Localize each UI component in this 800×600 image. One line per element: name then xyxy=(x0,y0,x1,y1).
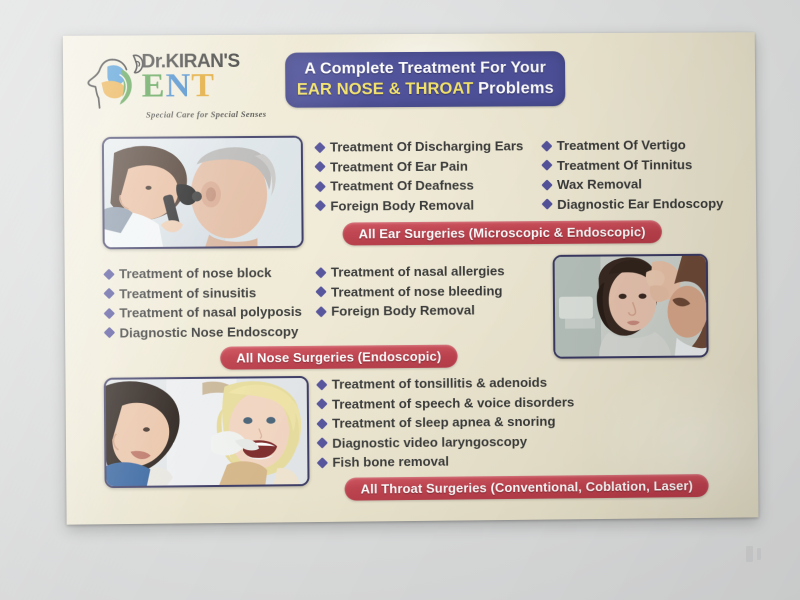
diamond-bullet-icon xyxy=(315,267,326,278)
diamond-bullet-icon xyxy=(541,140,552,151)
throat-examination-photo xyxy=(104,376,310,488)
ent-clinic-poster-board: Dr.KIRAN'S ENT Special Care for Special … xyxy=(63,32,759,524)
ear-surgeries-banner: All Ear Surgeries (Microscopic & Endosco… xyxy=(343,220,662,245)
ear-treatments-left-list: Treatment Of Discharging Ears Treatment … xyxy=(316,136,524,215)
diamond-bullet-icon xyxy=(316,306,327,317)
nose-treatments-right-list: Treatment of nasal allergies Treatment o… xyxy=(317,261,505,321)
list-item-label: Treatment of nasal allergies xyxy=(331,261,505,282)
list-item: Diagnostic video laryngoscopy xyxy=(318,431,575,453)
header-rest: Problems xyxy=(473,79,554,97)
diamond-bullet-icon xyxy=(316,418,327,429)
list-item: Treatment Of Ear Pain xyxy=(316,156,524,177)
brand-letter-t: T xyxy=(191,67,215,104)
nose-surgeries-banner-label: All Nose Surgeries (Endoscopic) xyxy=(236,349,441,366)
diamond-bullet-icon xyxy=(314,161,325,172)
brand-acronym: ENT xyxy=(142,69,216,104)
wall-background: Dr.KIRAN'S ENT Special Care for Special … xyxy=(0,0,800,600)
list-item-label: Foreign Body Removal xyxy=(331,300,475,321)
list-item: Diagnostic Ear Endoscopy xyxy=(543,193,723,214)
list-item: Treatment of nasal allergies xyxy=(317,261,505,282)
diamond-bullet-icon xyxy=(103,268,114,279)
header-banner: A Complete Treatment For Your EAR NOSE &… xyxy=(285,51,565,108)
diamond-bullet-icon xyxy=(542,198,553,209)
list-item-label: Treatment of nasal polyposis xyxy=(119,302,302,323)
diamond-bullet-icon xyxy=(316,398,327,409)
ear-treatments-right-list: Treatment Of Vertigo Treatment Of Tinnit… xyxy=(543,135,724,214)
list-item: Treatment Of Deafness xyxy=(316,175,524,196)
clinic-logo: Dr.KIRAN'S ENT Special Care for Special … xyxy=(79,47,271,126)
list-item: Wax Removal xyxy=(543,174,723,195)
diamond-bullet-icon xyxy=(103,288,114,299)
brand-letter-e: E xyxy=(142,67,166,104)
list-item: Treatment of sleep apnea & snoring xyxy=(318,411,575,433)
list-item-label: Fish bone removal xyxy=(332,452,449,473)
list-item: Foreign Body Removal xyxy=(316,195,524,216)
list-item: Treatment Of Vertigo xyxy=(543,135,723,156)
diamond-bullet-icon xyxy=(315,286,326,297)
ear-surgeries-banner-label: All Ear Surgeries (Microscopic & Endosco… xyxy=(359,224,646,241)
list-item: Diagnostic Nose Endoscopy xyxy=(105,321,302,342)
list-item-label: Diagnostic Nose Endoscopy xyxy=(119,321,298,342)
nose-surgeries-banner: All Nose Surgeries (Endoscopic) xyxy=(220,345,457,370)
list-item: Treatment of speech & voice disorders xyxy=(318,392,575,414)
nose-examination-photo xyxy=(553,254,709,359)
list-item-label: Treatment Of Deafness xyxy=(330,176,474,196)
brand-letter-n: N xyxy=(165,67,191,104)
list-item-label: Treatment of sinusitis xyxy=(119,283,256,304)
diamond-bullet-icon xyxy=(541,159,552,170)
nose-treatments-left-list: Treatment of nose block Treatment of sin… xyxy=(105,263,302,343)
list-item-label: Treatment of sleep apnea & snoring xyxy=(332,412,555,434)
list-item: Foreign Body Removal xyxy=(317,300,505,321)
throat-surgeries-banner-label: All Throat Surgeries (Conventional, Cobl… xyxy=(361,478,693,496)
ear-examination-photo xyxy=(102,136,304,250)
brand-tagline: Special Care for Special Senses xyxy=(146,109,266,120)
face-profile-ear-logo-icon xyxy=(79,49,146,112)
list-item-label: Treatment of speech & voice disorders xyxy=(332,392,574,414)
throat-treatments-list: Treatment of tonsillitis & adenoids Trea… xyxy=(318,373,575,473)
list-item-label: Diagnostic video laryngoscopy xyxy=(332,431,527,452)
list-item-label: Diagnostic Ear Endoscopy xyxy=(557,193,723,214)
list-item-label: Foreign Body Removal xyxy=(330,195,474,216)
diamond-bullet-icon xyxy=(315,180,326,191)
list-item-label: Treatment Of Ear Pain xyxy=(330,156,468,176)
list-item: Treatment of nose bleeding xyxy=(317,281,505,302)
list-item-label: Treatment Of Discharging Ears xyxy=(330,136,524,157)
wall-mark xyxy=(757,548,761,560)
list-item: Treatment of nasal polyposis xyxy=(105,302,302,323)
list-item-label: Treatment of nose bleeding xyxy=(331,281,503,302)
list-item: Treatment Of Discharging Ears xyxy=(316,136,524,157)
list-item: Fish bone removal xyxy=(318,450,575,472)
list-item: Treatment of sinusitis xyxy=(105,282,302,303)
list-item: Treatment of tonsillitis & adenoids xyxy=(318,373,575,395)
list-item-label: Wax Removal xyxy=(557,174,642,194)
list-item-label: Treatment of nose block xyxy=(119,263,272,284)
diamond-bullet-icon xyxy=(104,327,115,338)
diamond-bullet-icon xyxy=(541,179,552,190)
list-item-label: Treatment of tonsillitis & adenoids xyxy=(332,373,547,394)
diamond-bullet-icon xyxy=(317,457,328,468)
diamond-bullet-icon xyxy=(315,200,326,211)
header-highlight: EAR NOSE & THROAT xyxy=(297,80,474,99)
list-item: Treatment Of Tinnitus xyxy=(543,154,723,175)
diamond-bullet-icon xyxy=(314,141,325,152)
list-item-label: Treatment Of Vertigo xyxy=(557,135,686,155)
list-item: Treatment of nose block xyxy=(105,263,302,284)
list-item-label: Treatment Of Tinnitus xyxy=(557,155,693,175)
diamond-bullet-icon xyxy=(316,379,327,390)
header-line-2: EAR NOSE & THROAT Problems xyxy=(297,78,554,100)
diamond-bullet-icon xyxy=(317,437,328,448)
throat-surgeries-banner: All Throat Surgeries (Conventional, Cobl… xyxy=(345,474,709,501)
diamond-bullet-icon xyxy=(104,307,115,318)
wall-mark xyxy=(746,546,753,562)
header-line-1: A Complete Treatment For Your xyxy=(304,58,546,79)
